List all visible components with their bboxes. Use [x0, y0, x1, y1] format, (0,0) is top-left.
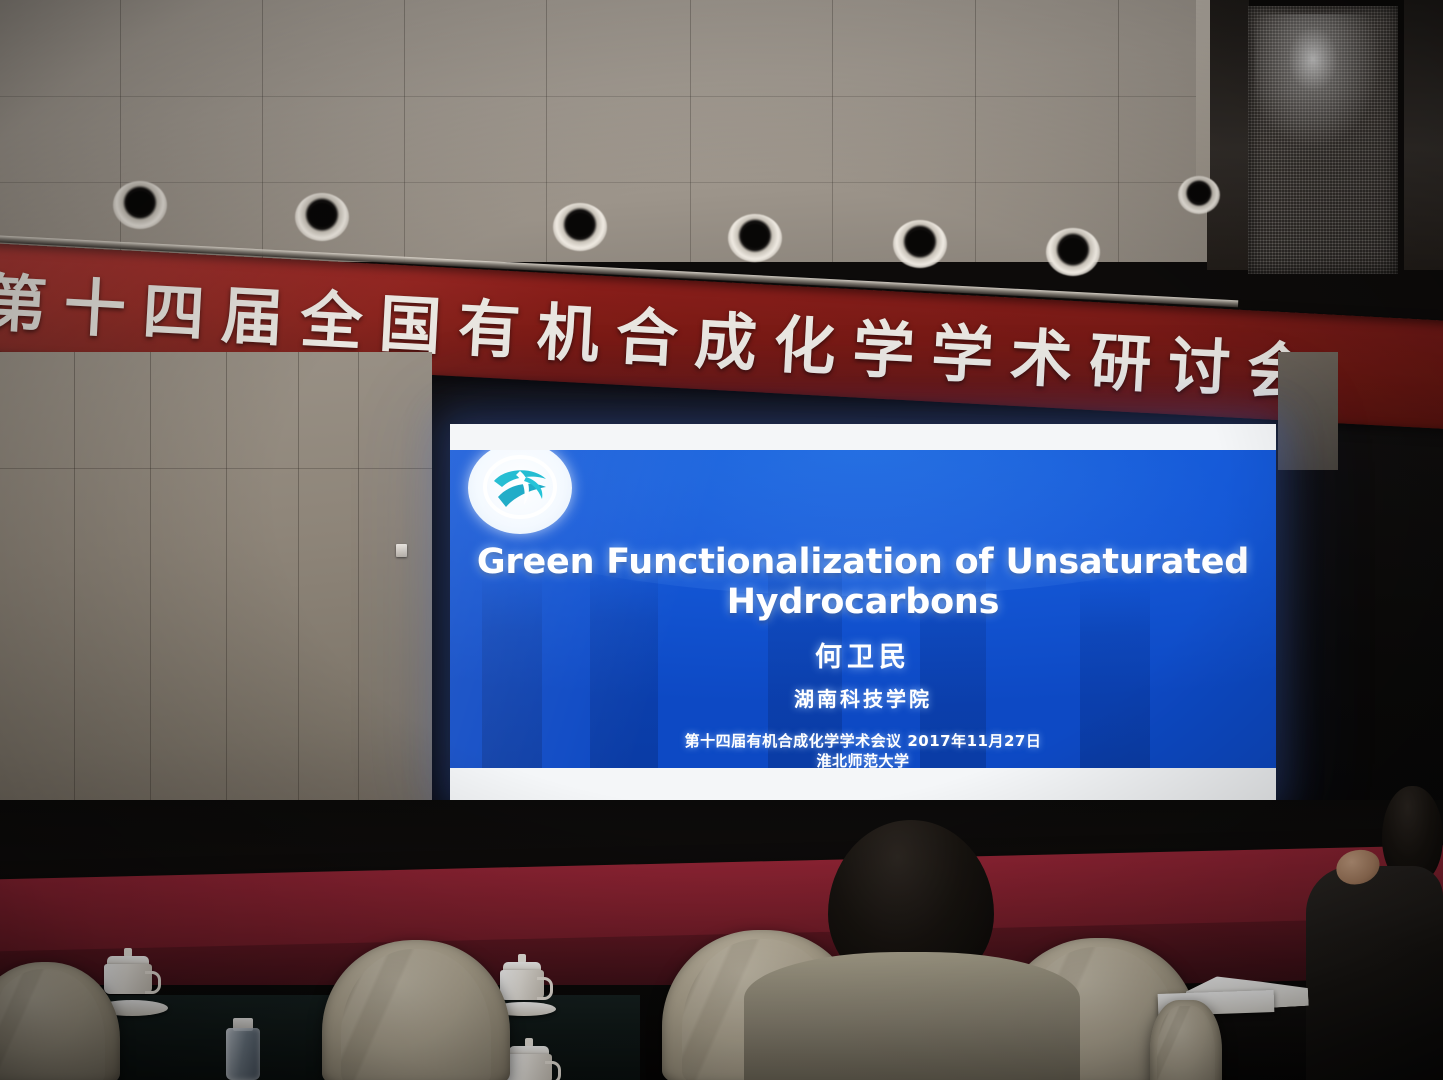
decorative-mesh-panel: [1248, 6, 1398, 274]
teacup-right: [500, 958, 544, 1006]
slide-meta-line-2: 淮北师范大学: [450, 751, 1276, 768]
projection-screen: Green Functionalization of Unsaturated H…: [450, 424, 1276, 802]
ceiling-downlight-5: [893, 220, 947, 268]
wall-dark-column: [1207, 0, 1249, 270]
slide-presenter-name: 何卫民: [450, 635, 1276, 674]
water-bottle: [226, 1018, 260, 1080]
slide-meta: 第十四届有机合成化学学术会议 2017年11月27日 淮北师范大学: [450, 731, 1276, 768]
standing-person-torso: [1306, 866, 1443, 1080]
left-wall-panel: [0, 352, 432, 834]
wall-switch-plate[interactable]: [396, 544, 407, 557]
teacup-left: [104, 952, 152, 1002]
ceiling-downlight-7: [1178, 176, 1220, 214]
wall-light-sliver: [1196, 0, 1210, 196]
ceiling-downlight-2: [295, 193, 349, 241]
wall-dark-column-right: [1404, 0, 1443, 270]
slide-canvas: Green Functionalization of Unsaturated H…: [450, 450, 1276, 768]
chair-back-far-right: [1150, 1000, 1222, 1080]
university-logo-icon: [468, 450, 572, 534]
ceiling-downlight-3: [553, 203, 607, 251]
right-wall-segment: [1278, 352, 1338, 470]
slide-affiliation: 湖南科技学院: [450, 683, 1276, 712]
slide-title: Green Functionalization of Unsaturated H…: [450, 542, 1276, 622]
teacup-bottom-center: [506, 1042, 552, 1080]
ceiling-downlight-6: [1046, 228, 1100, 276]
audience-person-shoulders: [744, 952, 1080, 1080]
ceiling-downlight-1: [113, 181, 167, 229]
ceiling-downlight-4: [728, 214, 782, 262]
slide-meta-line-1: 第十四届有机合成化学学术会议 2017年11月27日: [450, 731, 1276, 751]
conference-hall-photo: 第十四届全国有机合成化学学术研讨会: [0, 0, 1443, 1080]
